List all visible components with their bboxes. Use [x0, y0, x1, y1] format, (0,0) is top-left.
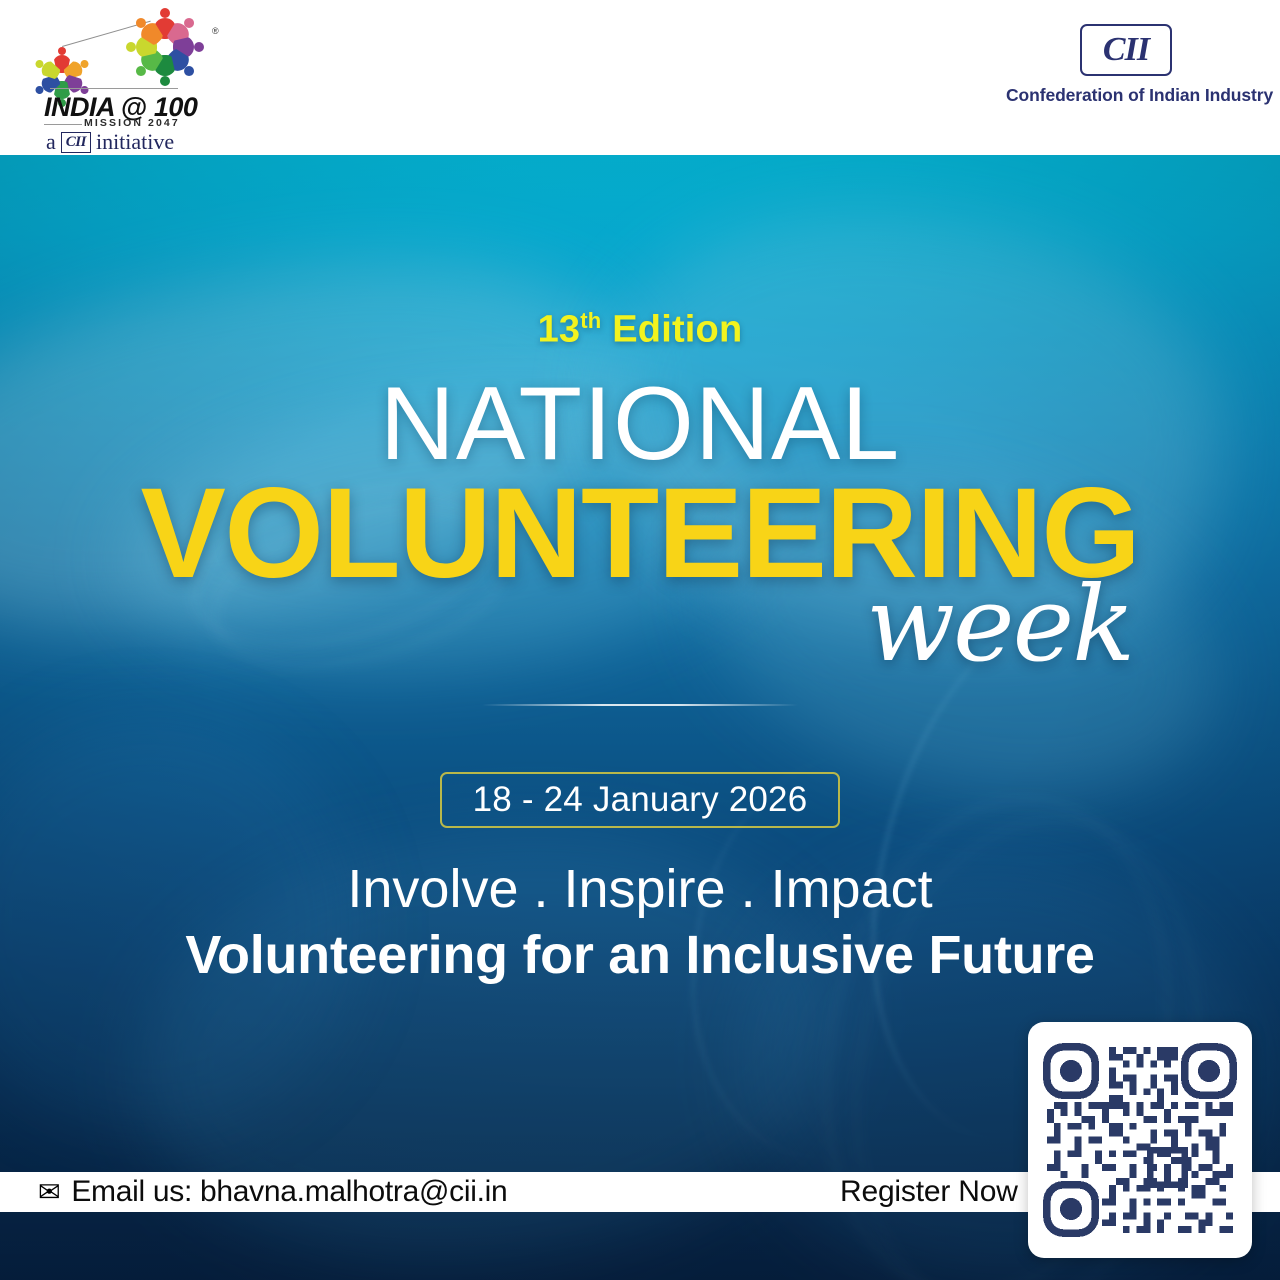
- event-tagline: Involve . Inspire . Impact Volunteering …: [0, 858, 1280, 987]
- contact-email-label: Email us: bhavna.malhotra@cii.in: [71, 1175, 507, 1209]
- tagline-line-1: Involve . Inspire . Impact: [0, 858, 1280, 922]
- cii-initiative-line: a CII initiative: [46, 129, 174, 155]
- cii-full-name: Confederation of Indian Industry: [1006, 85, 1246, 106]
- cii-small-mark: CII: [61, 132, 91, 153]
- initiative-suffix: initiative: [96, 129, 174, 155]
- initiative-prefix: a: [46, 129, 56, 155]
- mission-2047-text: MISSION 2047: [84, 117, 180, 129]
- edition-ordinal: th: [580, 308, 601, 333]
- contact-email[interactable]: ✉ Email us: bhavna.malhotra@cii.in: [38, 1174, 507, 1210]
- poster-canvas: ® INDIA @ 100 MISSION 2047 a CII initiat…: [0, 0, 1280, 1280]
- envelope-icon: ✉: [38, 1179, 60, 1206]
- title-national: NATIONAL: [0, 372, 1280, 476]
- tagline-line-2: Volunteering for an Inclusive Future: [0, 924, 1280, 988]
- registration-qr-code[interactable]: [1040, 1034, 1240, 1246]
- title-divider-line: [482, 704, 798, 706]
- registration-qr-card[interactable]: [1028, 1022, 1252, 1258]
- india-logo-underline: [50, 88, 178, 89]
- india-at-100-logo: ® INDIA @ 100 MISSION 2047 a CII initiat…: [32, 12, 222, 142]
- edition-word: Edition: [612, 309, 742, 351]
- cii-logo: CII Confederation of Indian Industry: [1006, 24, 1246, 106]
- edition-label: 13th Edition: [0, 308, 1280, 352]
- title-week: week: [866, 572, 1133, 676]
- cii-mark: CII: [1080, 24, 1172, 76]
- event-date-badge: 18 - 24 January 2026: [440, 772, 840, 828]
- mission-rule: [44, 124, 82, 125]
- poster-header: ® INDIA @ 100 MISSION 2047 a CII initiat…: [0, 0, 1280, 155]
- registered-trademark-mark: ®: [212, 26, 219, 36]
- edition-number: 13: [538, 309, 581, 351]
- register-now-label[interactable]: Register Now: [840, 1174, 1018, 1210]
